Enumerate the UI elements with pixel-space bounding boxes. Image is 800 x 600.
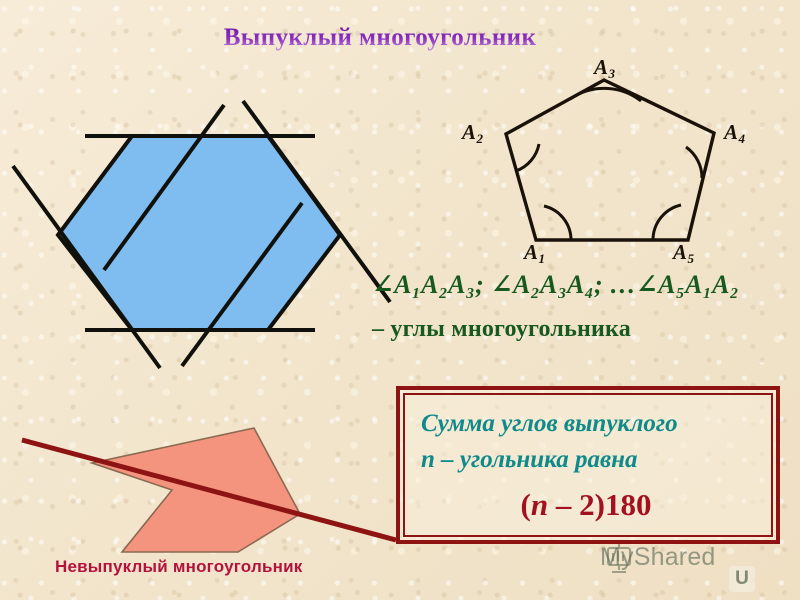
vertex-letter-A5: A	[673, 240, 687, 264]
angle-arc-A3	[570, 88, 641, 101]
pentagon-shape	[506, 80, 714, 240]
vertex-subscript-A4: 4	[739, 131, 746, 146]
angle-arc-A4	[686, 147, 702, 178]
vertex-subscript-A2: 2	[477, 131, 484, 146]
vertex-letter-A2: A	[462, 120, 476, 144]
pentagon-figure	[506, 80, 714, 240]
pentagon-vertex-label-A4: A4	[724, 120, 745, 147]
formula-result-suffix: – 2)180	[548, 487, 651, 522]
formula-box: Сумма углов выпуклого n – угольника равн…	[396, 386, 780, 544]
nonconvex-polygon-figure	[22, 428, 396, 552]
formula-result: (n – 2)180	[421, 487, 771, 523]
formula-text-line-2: n – угольника равна	[421, 442, 771, 478]
hexagon-shape	[58, 136, 340, 330]
slide-canvas: Выпуклый многоугольник A2 A3 A4 A1 A5 ∠A…	[0, 0, 800, 600]
nonconvex-shape	[92, 428, 300, 552]
vertex-letter-A3: A	[594, 55, 608, 79]
formula-result-prefix: (	[521, 487, 531, 522]
vertex-letter-A1: A	[524, 240, 538, 264]
pentagon-vertex-label-A2: A2	[462, 120, 483, 147]
slide-title: Выпуклый многоугольник	[0, 24, 760, 52]
pentagon-angle-arcs	[516, 88, 702, 240]
angle-notation-expression: ∠A₁A₂A₃; ∠A₂A₃A₄; …∠A₅A₁A₂	[372, 270, 739, 300]
angle-arc-A1	[544, 206, 571, 240]
formula-result-variable: n	[531, 487, 548, 522]
formula-text-line-1: Сумма углов выпуклого	[421, 406, 771, 442]
myshared-watermark: MyShared	[600, 543, 716, 572]
convex-hexagon-figure	[13, 101, 390, 368]
watermark-label: MyShared	[600, 543, 716, 572]
pentagon-vertex-label-A3: A3	[594, 55, 615, 82]
vertex-letter-A4: A	[724, 120, 738, 144]
vertex-subscript-A1: 1	[539, 251, 546, 266]
angle-arc-A2	[516, 144, 539, 171]
vertex-subscript-A3: 3	[609, 66, 616, 81]
watermark-badge-icon: U	[729, 566, 755, 592]
nonconvex-polygon-caption: Невыпуклый многоугольник	[55, 557, 302, 577]
pentagon-vertex-label-A1: A1	[524, 240, 545, 267]
angle-notation-caption: – углы многоугольника	[372, 316, 631, 343]
formula-box-inner-border: Сумма углов выпуклого n – угольника равн…	[403, 393, 773, 537]
angle-arc-A5	[653, 205, 681, 240]
pentagon-vertex-label-A5: A5	[673, 240, 694, 267]
vertex-subscript-A5: 5	[688, 251, 695, 266]
